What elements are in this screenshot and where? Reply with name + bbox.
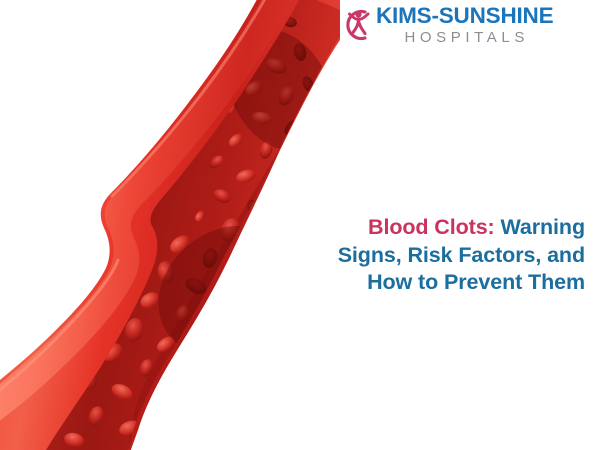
blood-vessel-illustration — [0, 0, 340, 450]
hospital-logo: KIMS-SUNSHINE HOSPITALS — [341, 4, 571, 52]
kims-sunshine-figure-mark — [341, 5, 375, 45]
logo-name: KIMS-SUNSHINE — [376, 4, 553, 28]
logo-wordmark: KIMS-SUNSHINE HOSPITALS — [376, 4, 553, 47]
logo-subtitle: HOSPITALS — [404, 29, 528, 47]
page-title-accent: Blood Clots: — [368, 215, 495, 239]
blog-banner: KIMS-SUNSHINE HOSPITALS Blood Clots: War… — [0, 0, 600, 450]
page-title: Blood Clots: Warning Signs, Risk Factors… — [315, 214, 585, 297]
